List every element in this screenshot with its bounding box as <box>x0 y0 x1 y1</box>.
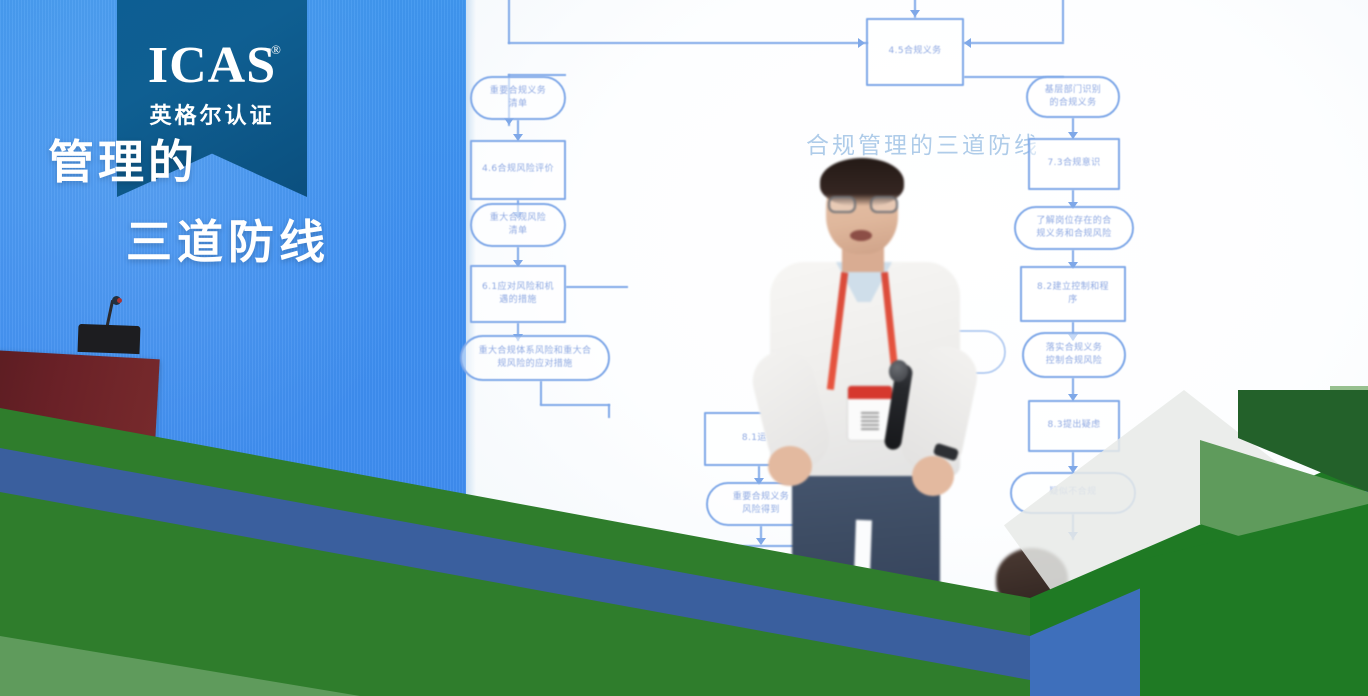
flow-node-system-risk-measures: 重大合规体系风险和重大合规风险的应对措施 <box>460 335 610 381</box>
flow-node-45: 4.5合规义务 <box>866 18 964 86</box>
audience-head <box>612 536 686 598</box>
podium-console <box>78 324 141 354</box>
speaker-left-hand <box>768 446 812 486</box>
speaker-mouth <box>850 230 872 241</box>
speaker-figure <box>762 150 992 620</box>
wall-headline-line1: 管理的 <box>48 126 198 192</box>
badge-header <box>848 386 892 399</box>
flow-node-83: 8.3提出疑虑 <box>1028 400 1120 452</box>
flow-node-82: 8.2建立控制和程序 <box>1020 266 1126 322</box>
flow-arrow <box>858 38 865 48</box>
registered-trademark-icon: ® <box>271 42 281 58</box>
flow-edge <box>566 286 628 288</box>
wall-headline-line2: 三道防线 <box>126 206 330 272</box>
podium <box>0 350 160 455</box>
presentation-photo-stage: 合规管理的三道防线 4.5合规义务 重要合规义务清单 4.6合规风险评价 重大合… <box>0 0 1368 696</box>
flow-node-73: 7.3合规意识 <box>1028 138 1120 190</box>
flow-edge <box>508 0 510 44</box>
flow-edge <box>540 381 542 405</box>
flow-node-61: 6.1应对风险和机遇的措施 <box>470 265 566 323</box>
eyeglasses-icon <box>828 196 898 213</box>
overlay-green-light-sliver <box>0 636 360 696</box>
flow-edge <box>508 42 868 44</box>
overlay-shard-light-green <box>1330 386 1368 504</box>
podium-mic-indicator <box>117 298 122 303</box>
audience-head <box>1322 582 1368 636</box>
flow-node-major-risks: 重大合规风险清单 <box>470 203 566 247</box>
flow-arrow <box>964 38 971 48</box>
flow-node-implement-control: 落实合规义务控制合规风险 <box>1022 332 1126 378</box>
flow-edge <box>1062 0 1064 42</box>
flow-edge <box>540 404 610 406</box>
flow-arrow <box>910 10 920 17</box>
flow-node-understand-post: 了解岗位存在的合规义务和合规风险 <box>1014 206 1134 250</box>
audience-head <box>736 560 806 618</box>
qr-code-icon <box>861 412 879 430</box>
flow-edge <box>964 42 1064 44</box>
flow-edge <box>608 404 610 418</box>
flow-node-important-obligations: 重要合规义务清单 <box>470 76 566 120</box>
speaker-right-hand <box>912 456 954 496</box>
flow-node-46: 4.6合规风险评价 <box>470 140 566 200</box>
flow-node-dept-obligations: 基层部门识别的合规义务 <box>1026 76 1120 118</box>
